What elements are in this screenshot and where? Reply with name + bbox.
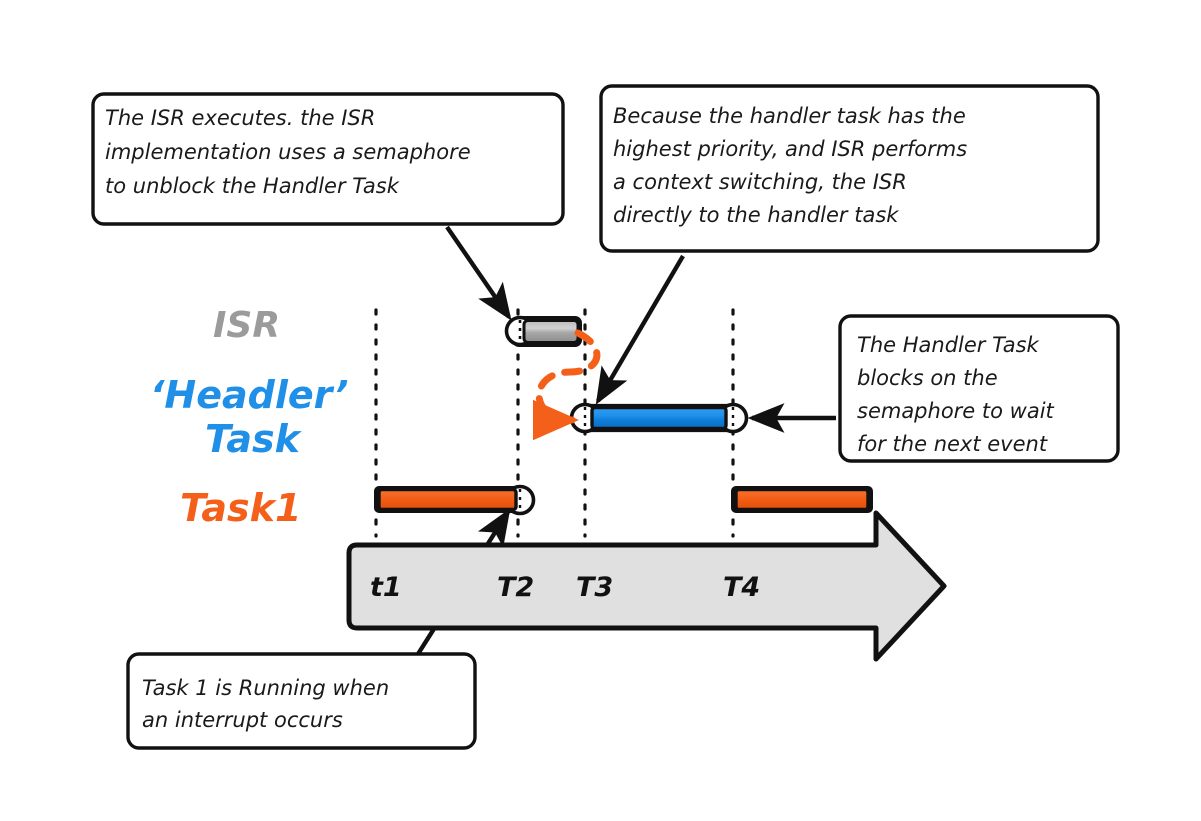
callout-3-line-2: blocks on the [857,366,998,390]
lane-label-handler-line2: Task [205,417,303,461]
bar-task1-resume[interactable] [733,488,871,511]
bar-handler-execution[interactable] [572,405,747,432]
diagram-canvas: The ISR executes. the ISR implementation… [0,0,1201,821]
callout-task1-running: Task 1 is Running when an interrupt occu… [128,654,475,748]
bar-task1-first-run[interactable] [376,487,534,514]
callout-isr-executes: The ISR executes. the ISR implementation… [93,94,563,224]
callout-1-line-1: The ISR executes. the ISR [105,106,375,130]
task1-bar-inner-2 [736,490,868,510]
callout-4-line-1: Task 1 is Running when [142,676,389,700]
callout-1-line-2: implementation uses a semaphore [105,140,471,164]
pointer-arrow-callout-1 [447,227,509,317]
callout-2-line-1: Because the handler task has the [613,104,966,128]
callout-2-line-2: highest priority, and ISR performs [613,137,967,161]
callout-context-switch: Because the handler task has the highest… [601,86,1098,251]
callout-3-line-1: The Handler Task [857,333,1040,357]
callout-1-line-3: to unblock the Handler Task [105,174,400,198]
lane-label-task1: Task1 [180,486,301,530]
callout-2-line-4: directly to the handler task [613,203,899,227]
lane-label-isr: ISR [213,305,280,346]
handler-bar-inner [592,408,726,429]
timeline-arrow-shape [349,513,944,659]
callout-handler-blocks: The Handler Task blocks on the semaphore… [840,316,1118,461]
time-tick-t2: T2 [497,572,534,603]
callout-3-line-4: for the next event [857,432,1048,456]
bar-isr-execution[interactable] [507,318,581,346]
time-tick-t4: T4 [723,572,760,603]
callout-2-line-3: a context switching, the ISR [613,170,907,194]
lane-label-handler-line1: ‘Headler’ [150,373,348,417]
time-tick-t1: t1 [370,572,402,603]
timeline-arrow: t1 T2 T3 T4 [349,513,944,659]
rtos-timeline-diagram: The ISR executes. the ISR implementation… [0,0,1201,821]
callout-box-4 [128,654,475,748]
callout-4-line-2: an interrupt occurs [142,708,343,732]
callout-3-line-3: semaphore to wait [857,399,1055,423]
task1-bar-inner-1 [379,490,516,510]
pointer-arrow-callout-2 [598,256,683,401]
isr-bar-inner [524,321,578,343]
time-tick-t3: T3 [576,572,613,603]
